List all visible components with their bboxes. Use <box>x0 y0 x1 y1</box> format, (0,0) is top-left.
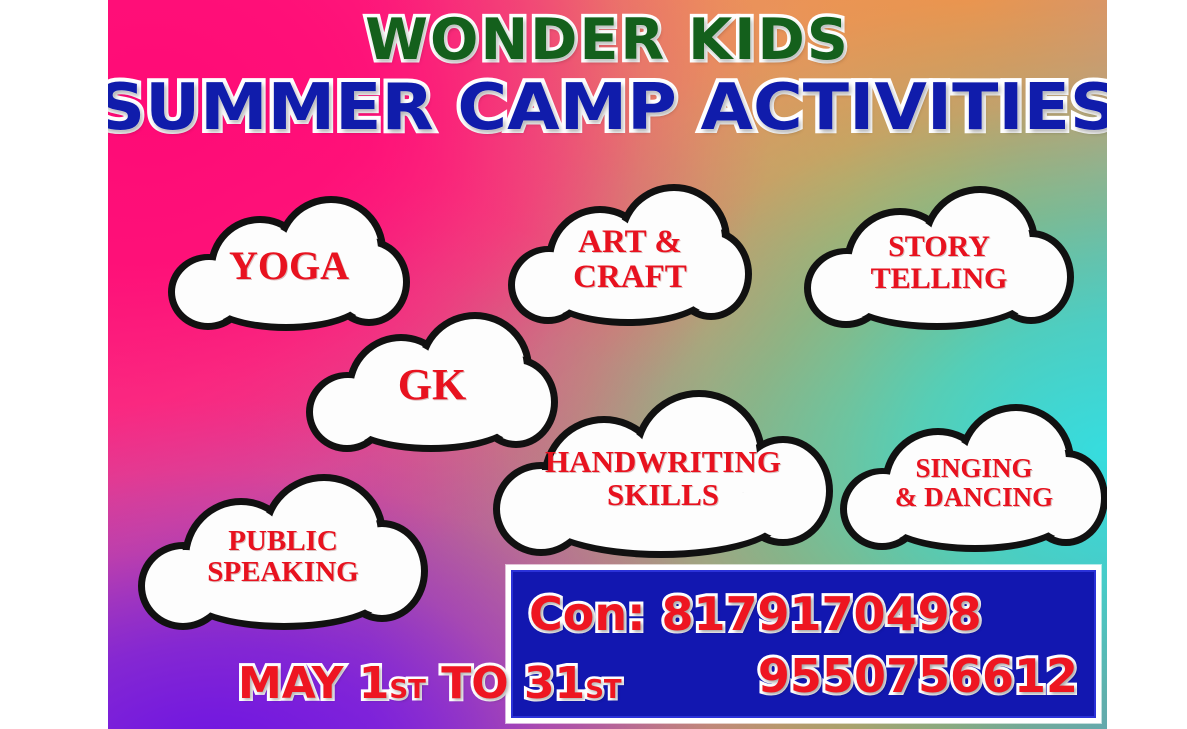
activity-label-art-and-craft: ART & CRAFT <box>569 225 691 295</box>
date-prefix: MAY 1 <box>238 658 389 709</box>
headline-summer-camp-activities: SUMMER CAMP ACTIVITIES <box>108 74 1107 142</box>
activity-cloud-handwriting[interactable]: HANDWRITING SKILLS <box>493 390 833 558</box>
activity-label-public-speaking: PUBLIC SPEAKING <box>203 526 362 587</box>
activity-label-yoga: YOGA <box>225 245 353 287</box>
activity-cloud-art-and-craft[interactable]: ART & CRAFT <box>508 184 752 326</box>
poster-canvas: WONDER KIDS SUMMER CAMP ACTIVITIES YOGA <box>108 0 1107 729</box>
headline-wonder-kids: WONDER KIDS <box>108 10 1107 70</box>
activity-cloud-public-speaking[interactable]: PUBLIC SPEAKING <box>138 474 428 630</box>
date-ordinal-first: ST <box>389 675 425 705</box>
contact-phone-primary: Con: 8179170498 <box>529 583 1078 645</box>
activity-label-gk: GK <box>394 362 470 409</box>
activity-cloud-yoga[interactable]: YOGA <box>168 196 410 331</box>
poster-root: WONDER KIDS SUMMER CAMP ACTIVITIES YOGA <box>0 0 1187 729</box>
activity-cloud-story-telling[interactable]: STORY TELLING <box>804 186 1074 330</box>
activity-label-handwriting: HANDWRITING SKILLS <box>541 446 785 512</box>
date-middle: TO 31 <box>426 658 585 709</box>
activity-label-singing-dancing: SINGING & DANCING <box>891 454 1057 511</box>
poster-title-group: WONDER KIDS SUMMER CAMP ACTIVITIES <box>108 10 1107 142</box>
activity-cloud-singing-dancing[interactable]: SINGING & DANCING <box>840 404 1107 552</box>
date-range-banner: MAY 1ST TO 31ST <box>238 655 622 719</box>
activity-label-story-telling: STORY TELLING <box>867 231 1012 295</box>
date-ordinal-second: ST <box>585 675 621 705</box>
